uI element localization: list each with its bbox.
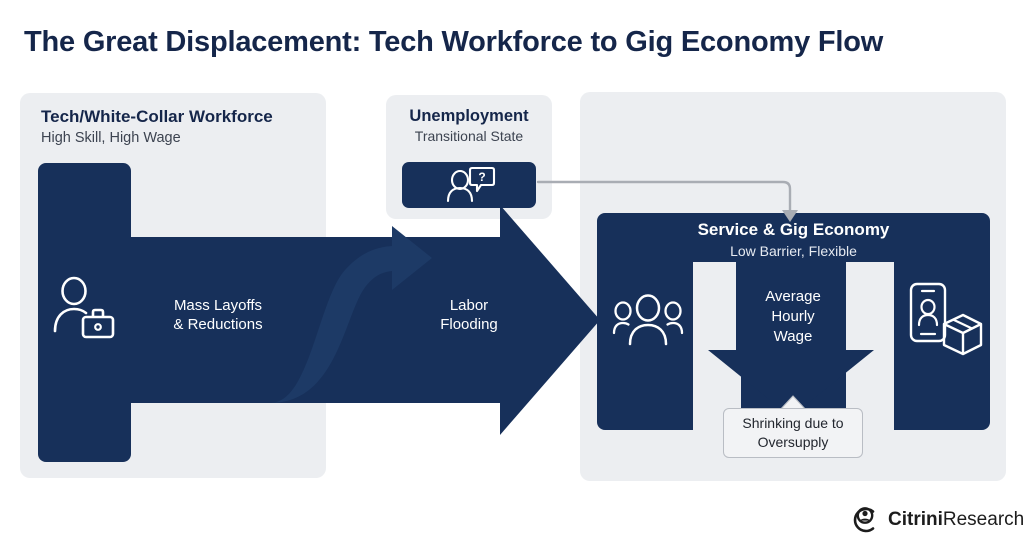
brand-name-light: Research	[943, 509, 1024, 530]
brand-logo: CitriniResearch	[846, 503, 1024, 537]
labor-flooding-label: Labor Flooding	[408, 296, 530, 334]
person-question-icon: ?	[447, 166, 495, 204]
workforce-heading: Tech/White-Collar Workforce	[41, 107, 273, 127]
gig-heading: Service & Gig Economy	[597, 220, 990, 240]
phone-package-icon	[907, 283, 983, 357]
gig-subheading: Low Barrier, Flexible	[597, 243, 990, 259]
brand-name: CitriniResearch	[888, 509, 1024, 531]
diagram-canvas: The Great Displacement: Tech Workforce t…	[0, 0, 1024, 541]
unemployment-subheading: Transitional State	[386, 128, 552, 144]
people-group-icon	[613, 292, 683, 347]
person-briefcase-icon	[52, 277, 117, 339]
svg-text:?: ?	[478, 170, 485, 184]
brand-name-bold: Citrini	[888, 509, 943, 530]
connector-line	[538, 182, 790, 215]
average-hourly-wage-label: Average Hourly Wage	[736, 287, 850, 347]
unemployment-heading: Unemployment	[386, 107, 552, 126]
citrini-spiral-icon	[846, 503, 880, 537]
oversupply-callout: Shrinking due to Oversupply	[723, 408, 863, 458]
workforce-subheading: High Skill, High Wage	[41, 130, 181, 146]
mass-layoffs-label: Mass Layoffs & Reductions	[148, 296, 288, 334]
